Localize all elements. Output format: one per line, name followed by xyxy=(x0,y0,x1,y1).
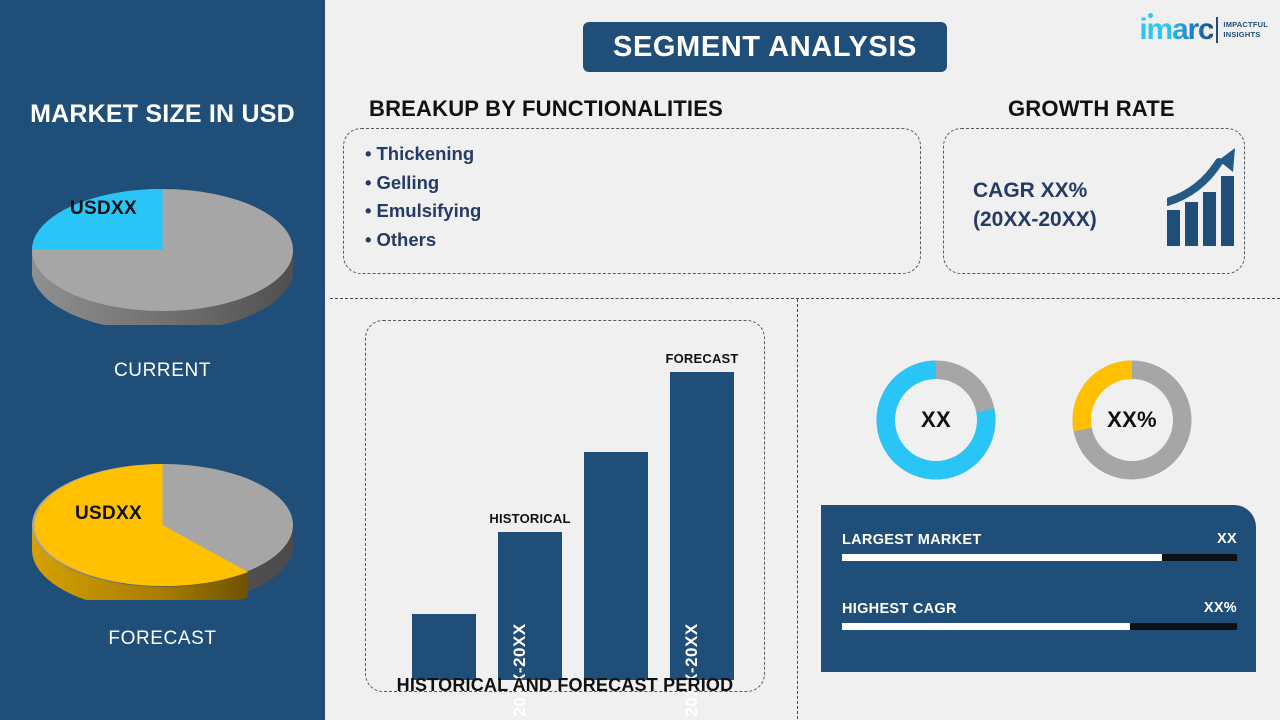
period-bar-chart: HISTORICAL 20XX-20XX FORECAST 20XX-20XX xyxy=(390,340,750,680)
functionalities-list: •Thickening •Gelling •Emulsifying •Other… xyxy=(365,140,481,254)
largest-market-donut-center: XX xyxy=(895,379,977,461)
list-item-label: Emulsifying xyxy=(376,200,481,221)
current-pie-slice-label: USDXX xyxy=(70,198,137,220)
page-title: SEGMENT ANALYSIS xyxy=(583,22,947,72)
growth-bars-arrow-icon xyxy=(1167,148,1235,246)
highest-cagr-donut: XX% xyxy=(1072,360,1192,480)
largest-market-label: LARGEST MARKET xyxy=(842,532,982,548)
logo-divider xyxy=(1216,17,1218,43)
bullet-icon: • xyxy=(365,172,371,193)
list-item-label: Gelling xyxy=(376,172,439,193)
logo-tagline: IMPACTFUL INSIGHTS xyxy=(1223,20,1268,40)
largest-market-progress-fill xyxy=(842,554,1162,561)
historical-label: HISTORICAL xyxy=(489,511,570,526)
largest-market-value: XX xyxy=(1217,531,1237,547)
forecast-label: FORECAST xyxy=(665,351,738,366)
bar-2: HISTORICAL 20XX-20XX xyxy=(498,532,562,680)
market-stats-card: XX LARGEST MARKET XX% HIGHEST CAGR xyxy=(821,505,1256,672)
forecast-range-label: 20XX-20XX xyxy=(682,623,702,716)
forecast-pie-slice-label: USDXX xyxy=(75,503,142,525)
largest-market-donut: XX xyxy=(876,360,996,480)
historical-range-label: 20XX-20XX xyxy=(510,623,530,716)
growth-rate-heading: GROWTH RATE xyxy=(1008,96,1175,122)
list-item: •Emulsifying xyxy=(365,197,481,226)
stat-row-largest-market: XX LARGEST MARKET xyxy=(842,531,1237,561)
market-size-sidebar: MARKET SIZE IN USD USDXX CURRENT xyxy=(0,0,325,720)
horizontal-divider xyxy=(330,298,1280,299)
highest-cagr-value: XX% xyxy=(1204,600,1237,616)
growth-rate-cagr: CAGR XX% xyxy=(973,176,1097,205)
current-pie-svg xyxy=(30,170,295,325)
largest-market-donut-value: XX xyxy=(921,407,951,433)
period-chart-axis-label: HISTORICAL AND FORECAST PERIOD xyxy=(365,675,765,696)
highest-cagr-donut-value: XX% xyxy=(1107,407,1157,433)
sidebar-title: MARKET SIZE IN USD xyxy=(0,100,325,129)
current-pie-caption: CURRENT xyxy=(0,360,325,382)
list-item: •Gelling xyxy=(365,169,481,198)
bar-1 xyxy=(412,614,476,680)
bar-3 xyxy=(584,452,648,680)
forecast-market-pie-chart: USDXX xyxy=(30,445,295,600)
stat-row-highest-cagr: XX% HIGHEST CAGR xyxy=(842,600,1237,630)
growth-rate-period: (20XX-20XX) xyxy=(973,205,1097,234)
forecast-pie-svg xyxy=(30,445,295,600)
highest-cagr-progress-track xyxy=(842,623,1237,630)
bullet-icon: • xyxy=(365,143,371,164)
largest-market-progress-track xyxy=(842,554,1237,561)
bullet-icon: • xyxy=(365,229,371,250)
highest-cagr-label: HIGHEST CAGR xyxy=(842,601,957,617)
growth-rate-text: CAGR XX% (20XX-20XX) xyxy=(973,176,1097,234)
highest-cagr-donut-center: XX% xyxy=(1091,379,1173,461)
list-item: •Others xyxy=(365,226,481,255)
bullet-icon: • xyxy=(365,200,371,221)
list-item-label: Others xyxy=(376,229,436,250)
segment-analysis-infographic: MARKET SIZE IN USD USDXX CURRENT xyxy=(0,0,1280,720)
vertical-divider xyxy=(797,299,798,719)
highest-cagr-progress-fill xyxy=(842,623,1130,630)
current-market-pie-chart: USDXX xyxy=(30,170,295,325)
list-item: •Thickening xyxy=(365,140,481,169)
bar-4: FORECAST 20XX-20XX xyxy=(670,372,734,680)
main-panel: SEGMENT ANALYSIS imarc IMPACTFUL INSIGHT… xyxy=(325,0,1280,720)
logo-tagline-line1: IMPACTFUL xyxy=(1223,20,1268,30)
imarc-logo: imarc IMPACTFUL INSIGHTS xyxy=(1139,12,1268,48)
list-item-label: Thickening xyxy=(376,143,474,164)
logo-tagline-line2: INSIGHTS xyxy=(1223,30,1268,40)
forecast-pie-caption: FORECAST xyxy=(0,628,325,650)
functionalities-heading: BREAKUP BY FUNCTIONALITIES xyxy=(369,96,723,122)
